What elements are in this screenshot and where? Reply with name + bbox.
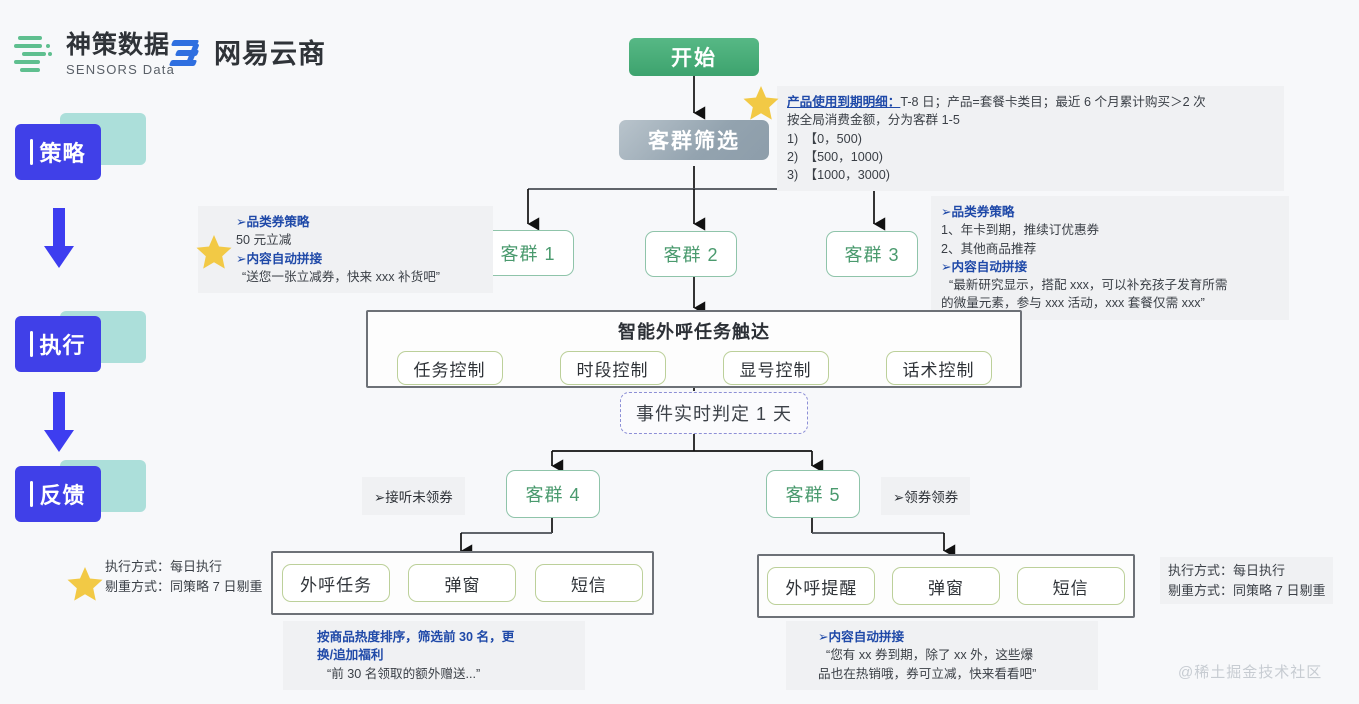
- pill-callerid-control[interactable]: 显号控制: [723, 351, 829, 385]
- stage-accent-bar: [30, 139, 33, 165]
- node-realtime-judgement[interactable]: 事件实时判定 1 天: [620, 392, 808, 434]
- panel-right-actions: 外呼提醒 弹窗 短信: [757, 554, 1135, 618]
- callout-line: 产品使用到期明细：T-8 日；产品=套餐卡类目；最近 6 个月累计购买＞2 次: [787, 93, 1274, 111]
- callout-line: 1、年卡到期，推续订优惠券: [941, 221, 1279, 239]
- star-icon: [195, 234, 233, 270]
- pill-outbound-reminder[interactable]: 外呼提醒: [767, 567, 875, 605]
- netease-logo-cn: 网易云商: [214, 41, 326, 68]
- callout-right-coupon-strategy: ➢品类券策略 1、年卡到期，推续订优惠券 2、其他商品推荐 ➢内容自动拼接 “最…: [931, 196, 1289, 320]
- panel-title: 智能外呼任务触达: [368, 318, 1020, 344]
- pill-outbound-task[interactable]: 外呼任务: [282, 564, 390, 602]
- stage-label-feedback: 反馈: [39, 478, 85, 510]
- stage-label-execution: 执行: [39, 328, 85, 360]
- callout-quote: “送您一张立减券，快来 xxx 补货吧”: [208, 268, 483, 286]
- panel-left-actions: 外呼任务 弹窗 短信: [271, 551, 654, 615]
- pill-sms-right[interactable]: 短信: [1017, 567, 1125, 605]
- callout-quote: 品也在热销哦，券可立减，快来看看吧”: [796, 665, 1088, 683]
- stage-accent-bar: [30, 331, 33, 357]
- callout-quote: “您有 xx 券到期，除了 xx 外，这些爆: [796, 646, 1088, 664]
- callout-line: 1) 【0，500): [787, 130, 1274, 148]
- arrow-down-execution-to-feedback: [42, 392, 76, 454]
- note-line: 剔重方式：同策略 7 日剔重: [1168, 581, 1325, 601]
- node-audience-group-5[interactable]: 客群 5: [766, 470, 860, 518]
- callout-line: 2) 【500，1000): [787, 148, 1274, 166]
- sensors-logo-en: SENSORS Data: [66, 63, 175, 76]
- note-line: 执行方式：每日执行: [1168, 561, 1325, 581]
- node-start[interactable]: 开始: [629, 38, 759, 76]
- callout-head: 换/追加福利: [293, 646, 575, 664]
- arrow-down-strategy-to-execution: [42, 208, 76, 270]
- callout-line: 按全局消费金额，分为客群 1-5: [787, 111, 1274, 129]
- stage-accent-bar: [30, 481, 33, 507]
- callout-head: ➢内容自动拼接: [208, 250, 483, 268]
- callout-head: ➢内容自动拼接: [941, 258, 1279, 276]
- pill-popup-right[interactable]: 弹窗: [892, 567, 1000, 605]
- node-audience-group-1[interactable]: 客群 1: [482, 230, 574, 276]
- callout-bottom-right-content: ➢内容自动拼接 “您有 xx 券到期，除了 xx 外，这些爆 品也在热销哦，券可…: [786, 621, 1098, 690]
- star-icon: [66, 566, 104, 602]
- note-line: 执行方式：每日执行: [105, 557, 262, 577]
- pill-popup-left[interactable]: 弹窗: [408, 564, 516, 602]
- callout-head: ➢品类券策略: [208, 213, 483, 231]
- callout-quote: “最新研究显示，搭配 xxx，可以补充孩子发育所需: [941, 276, 1279, 294]
- note-execution-right: 执行方式：每日执行 剔重方式：同策略 7 日剔重: [1160, 557, 1333, 604]
- callout-head: ➢品类券策略: [941, 203, 1279, 221]
- callout-head: 产品使用到期明细：: [787, 95, 900, 109]
- note-line: 剔重方式：同策略 7 日剔重: [105, 577, 262, 597]
- node-audience-group-4[interactable]: 客群 4: [506, 470, 600, 518]
- panel-smart-outbound-task: 智能外呼任务触达 任务控制 时段控制 显号控制 话术控制: [366, 310, 1022, 388]
- node-audience-group-3[interactable]: 客群 3: [826, 231, 918, 277]
- star-icon: [742, 85, 780, 121]
- pill-sms-left[interactable]: 短信: [535, 564, 643, 602]
- sensors-logo-icon: [12, 32, 56, 76]
- node-audience-group-2[interactable]: 客群 2: [645, 231, 737, 277]
- tag-claimed-coupon: ➢领券领券: [881, 477, 970, 515]
- watermark: @稀土掘金技术社区: [1178, 661, 1322, 682]
- sensors-data-logo: 神策数据 SENSORS Data: [12, 32, 175, 76]
- pill-task-control[interactable]: 任务控制: [397, 351, 503, 385]
- node-audience-filter[interactable]: 客群筛选: [619, 120, 769, 160]
- pill-script-control[interactable]: 话术控制: [886, 351, 992, 385]
- stage-label-strategy: 策略: [39, 136, 85, 168]
- note-execution-left: 执行方式：每日执行 剔重方式：同策略 7 日剔重: [105, 557, 262, 596]
- callout-line: 3) 【1000，3000): [787, 166, 1274, 184]
- stage-strategy[interactable]: 策略: [15, 124, 101, 180]
- stage-execution[interactable]: 执行: [15, 316, 101, 372]
- callout-head: ➢内容自动拼接: [796, 628, 1088, 646]
- sensors-logo-cn: 神策数据: [66, 33, 175, 58]
- callout-quote: “前 30 名领取的额外赠送...”: [293, 665, 575, 683]
- netease-yunshang-logo: 网易云商: [168, 36, 326, 72]
- callout-head-rest: T-8 日；产品=套餐卡类目；最近 6 个月累计购买＞2 次: [900, 95, 1205, 109]
- flowchart-canvas: 神策数据 SENSORS Data 网易云商 策略 执行: [0, 0, 1359, 704]
- tag-answered-not-claimed: ➢接听未领券: [362, 477, 465, 515]
- callout-line: 50 元立减: [208, 231, 483, 249]
- callout-line: 2、其他商品推荐: [941, 240, 1279, 258]
- callout-product-expiry-detail: 产品使用到期明细：T-8 日；产品=套餐卡类目；最近 6 个月累计购买＞2 次 …: [777, 86, 1284, 191]
- netease-logo-icon: [168, 36, 204, 72]
- callout-head: 按商品热度排序，筛选前 30 名，更: [293, 628, 575, 646]
- stage-feedback[interactable]: 反馈: [15, 466, 101, 522]
- callout-left-coupon-strategy: ➢品类券策略 50 元立减 ➢内容自动拼接 “送您一张立减券，快来 xxx 补货…: [198, 206, 493, 293]
- callout-bottom-left-benefit: 按商品热度排序，筛选前 30 名，更 换/追加福利 “前 30 名领取的额外赠送…: [283, 621, 585, 690]
- pill-time-control[interactable]: 时段控制: [560, 351, 666, 385]
